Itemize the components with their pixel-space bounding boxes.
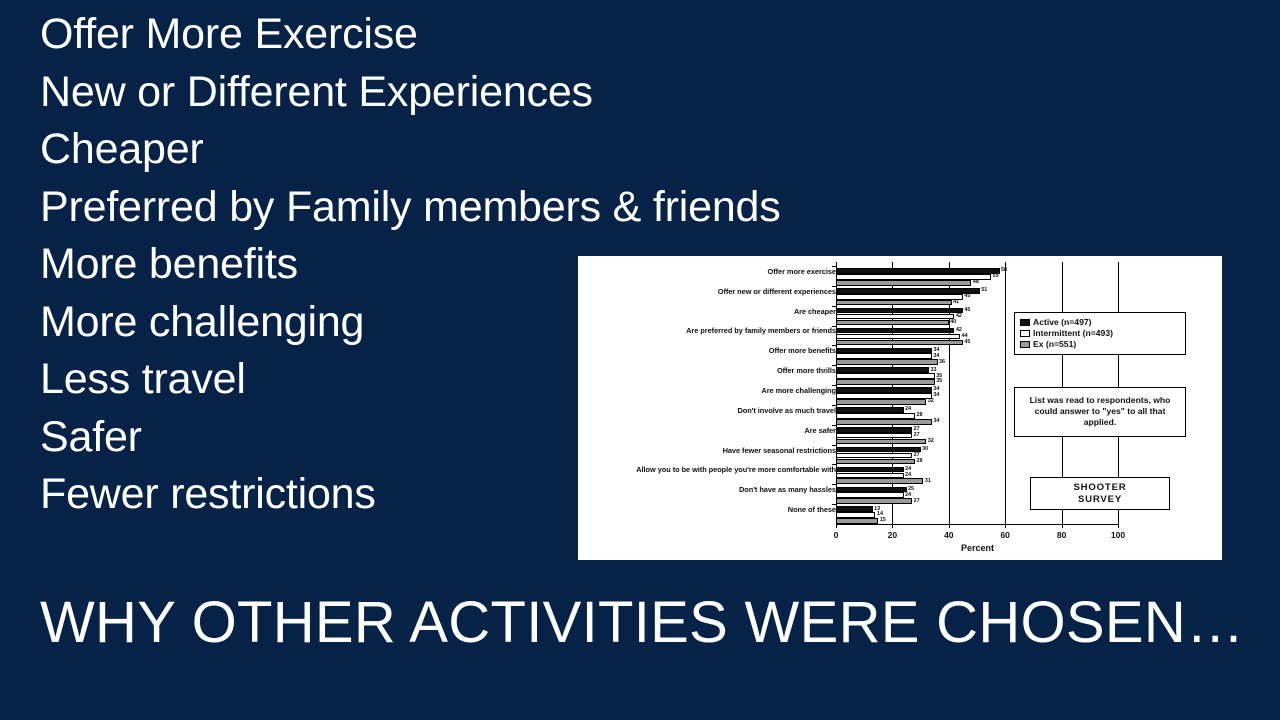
bar-intermittent	[836, 393, 932, 399]
bar-ex	[836, 340, 963, 346]
bar-value-label: 34	[933, 393, 939, 398]
x-tick-label: 0	[834, 530, 839, 540]
bar-active	[836, 367, 929, 373]
x-tick	[949, 524, 950, 528]
bar-ex	[836, 459, 915, 465]
bar-value-label: 41	[953, 300, 959, 305]
x-tick	[1062, 524, 1063, 528]
bar-ex	[836, 419, 932, 425]
bar-ex	[836, 359, 938, 365]
y-tick	[832, 266, 836, 267]
x-tick-label: 40	[944, 530, 953, 540]
bar-intermittent	[836, 512, 875, 518]
legend-label: Active (n=497)	[1033, 317, 1092, 328]
bar-ex	[836, 320, 949, 326]
bar-value-label: 48	[973, 280, 979, 285]
category-label: Offer more benefits	[596, 347, 836, 355]
bar-ex	[836, 478, 923, 484]
bar-value-label: 35	[936, 379, 942, 384]
x-tick-label: 20	[888, 530, 897, 540]
bar-value-label: 31	[925, 479, 931, 484]
category-label: Allow you to be with people you're more …	[596, 466, 836, 474]
x-tick	[1118, 524, 1119, 528]
chart-note-box: List was read to respondents, who could …	[1014, 387, 1186, 437]
y-tick	[832, 345, 836, 346]
y-tick	[832, 326, 836, 327]
bar-active	[836, 387, 932, 393]
chart-image-panel: 020406080100 Percent Offer more exercise…	[578, 256, 1222, 560]
bar-value-label: 51	[981, 288, 987, 293]
bar-active	[836, 348, 932, 354]
category-label: Offer more exercise	[596, 268, 836, 276]
category-label: Don't involve as much travel	[596, 407, 836, 415]
bullet-item: New or Different Experiences	[40, 64, 1000, 122]
bullet-item: Cheaper	[40, 121, 1000, 179]
bar-intermittent	[836, 274, 991, 280]
x-tick	[1005, 524, 1006, 528]
chart-legend: Active (n=497)Intermittent (n=493)Ex (n=…	[1014, 312, 1186, 355]
bar-value-label: 55	[993, 274, 999, 279]
y-tick	[832, 445, 836, 446]
bar-active	[836, 427, 912, 433]
y-tick	[832, 484, 836, 485]
x-tick	[836, 524, 837, 528]
bar-intermittent	[836, 433, 912, 439]
y-tick	[832, 385, 836, 386]
y-tick	[832, 286, 836, 287]
bar-value-label: 40	[950, 320, 956, 325]
x-tick-label: 60	[1000, 530, 1009, 540]
bar-ex	[836, 300, 952, 306]
y-tick	[832, 405, 836, 406]
category-label: Have fewer seasonal restrictions	[596, 447, 836, 455]
bar-intermittent	[836, 413, 915, 419]
bar-active	[836, 506, 873, 512]
bar-value-label: 27	[914, 499, 920, 504]
y-tick	[832, 365, 836, 366]
category-label: Are more challenging	[596, 387, 836, 395]
bar-intermittent	[836, 373, 935, 379]
x-tick-label: 80	[1057, 530, 1066, 540]
bar-value-label: 45	[964, 308, 970, 313]
category-label: Are preferred by family members or frien…	[596, 327, 836, 335]
bar-ex	[836, 399, 926, 405]
bullet-item: Preferred by Family members & friends	[40, 179, 1000, 237]
bar-value-label: 24	[905, 493, 911, 498]
bar-value-label: 27	[914, 433, 920, 438]
legend-swatch-active	[1020, 319, 1030, 326]
legend-item: Intermittent (n=493)	[1020, 328, 1180, 339]
bar-intermittent	[836, 314, 954, 320]
bar-value-label: 42	[956, 314, 962, 319]
legend-label: Intermittent (n=493)	[1033, 328, 1113, 339]
bar-value-label: 34	[933, 419, 939, 424]
legend-label: Ex (n=551)	[1033, 339, 1076, 350]
legend-swatch-ex	[1020, 341, 1030, 348]
bar-active	[836, 328, 954, 334]
bar-value-label: 58	[1001, 268, 1007, 273]
bar-intermittent	[836, 353, 932, 359]
bar-value-label: 32	[928, 399, 934, 404]
bar-ex	[836, 439, 926, 445]
x-axis-line	[836, 524, 1119, 525]
legend-item: Active (n=497)	[1020, 317, 1180, 328]
category-label: Offer new or different experiences	[596, 288, 836, 296]
bar-value-label: 36	[939, 360, 945, 365]
bar-active	[836, 407, 904, 413]
bar-active	[836, 308, 963, 314]
x-tick	[892, 524, 893, 528]
bar-chart: 020406080100 Percent Offer more exercise…	[578, 256, 1222, 560]
legend-swatch-intermittent	[1020, 330, 1030, 337]
bar-ex	[836, 280, 971, 286]
category-label: Are cheaper	[596, 308, 836, 316]
bar-ex	[836, 379, 935, 385]
bar-value-label: 45	[964, 294, 970, 299]
bar-active	[836, 467, 904, 473]
bar-active	[836, 487, 907, 493]
bar-ex	[836, 518, 878, 524]
bar-intermittent	[836, 294, 963, 300]
y-tick	[832, 425, 836, 426]
presentation-slide: Offer More ExerciseNew or Different Expe…	[0, 0, 1280, 720]
bar-active	[836, 268, 1000, 274]
legend-item: Ex (n=551)	[1020, 339, 1180, 350]
bar-active	[836, 288, 980, 294]
category-label: Are safer	[596, 427, 836, 435]
bar-value-label: 32	[928, 439, 934, 444]
bar-value-label: 24	[905, 473, 911, 478]
bullet-item: Offer More Exercise	[40, 6, 1000, 64]
category-label: None of these	[596, 506, 836, 514]
category-label: Offer more thrills	[596, 367, 836, 375]
x-axis-label: Percent	[836, 543, 1119, 553]
category-label: Don't have as many hassles	[596, 486, 836, 494]
bar-value-label: 30	[922, 447, 928, 452]
gridline-60	[1005, 262, 1006, 524]
bar-value-label: 45	[964, 340, 970, 345]
bar-ex	[836, 498, 912, 504]
bar-intermittent	[836, 453, 912, 459]
survey-line-2: SURVEY	[1035, 494, 1165, 506]
shooter-survey-badge: SHOOTER SURVEY	[1030, 477, 1170, 510]
bar-value-label: 15	[880, 518, 886, 523]
y-tick	[832, 306, 836, 307]
y-tick	[832, 504, 836, 505]
bar-value-label: 28	[916, 413, 922, 418]
bar-intermittent	[836, 334, 960, 340]
survey-line-1: SHOOTER	[1035, 482, 1165, 494]
bar-intermittent	[836, 492, 904, 498]
x-tick-label: 100	[1111, 530, 1125, 540]
bar-value-label: 24	[905, 407, 911, 412]
page-title: WHY OTHER ACTIVITIES WERE CHOSEN…	[40, 588, 1270, 658]
y-tick	[832, 464, 836, 465]
bar-value-label: 28	[916, 459, 922, 464]
bar-active	[836, 447, 921, 453]
bar-intermittent	[836, 473, 904, 479]
